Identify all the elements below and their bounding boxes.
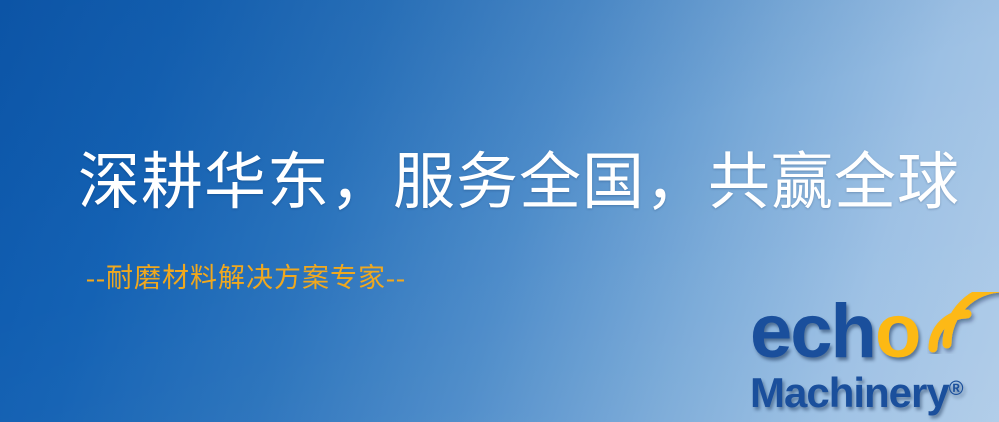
logo-wordmark-o: o	[875, 289, 919, 374]
logo-subtext: Machinery®	[750, 368, 964, 414]
logo-subtext-label: Machinery	[750, 369, 949, 416]
echo-waves-icon	[927, 292, 999, 354]
banner-headline: 深耕华东，服务全国，共赢全球	[78, 148, 960, 219]
logo-wordmark-prefix: ech	[750, 289, 875, 374]
registered-trademark-icon: ®	[949, 378, 964, 400]
logo-wordmark: echo	[750, 294, 919, 370]
banner-subtitle: --耐磨材料解决方案专家--	[86, 262, 406, 294]
company-logo: echo Machinery®	[748, 294, 999, 422]
promo-banner: 深耕华东，服务全国，共赢全球 --耐磨材料解决方案专家-- echo Machi…	[0, 0, 999, 422]
